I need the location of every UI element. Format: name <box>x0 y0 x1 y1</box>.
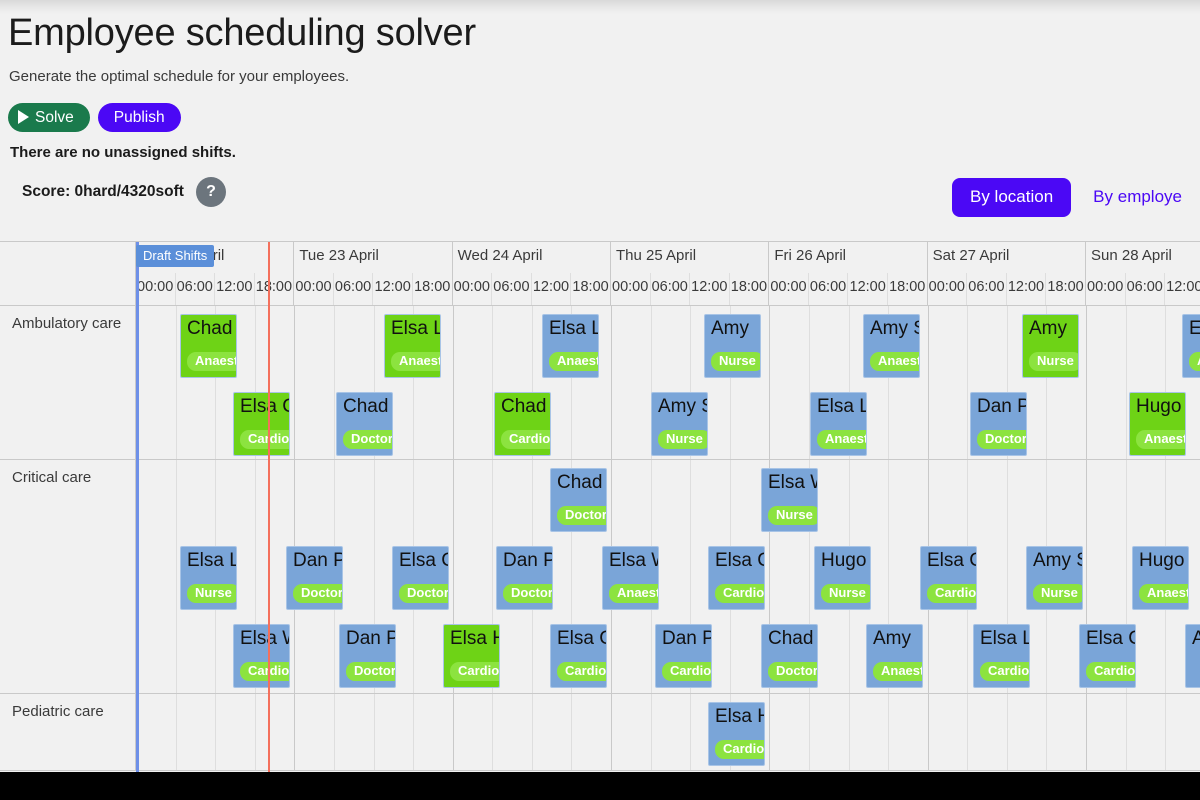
hour-header-label: 06:00 <box>177 279 213 295</box>
hour-header-label: 12:00 <box>533 279 569 295</box>
timeline-gridline <box>967 694 968 770</box>
shift-skill-tag: Anaest <box>609 584 659 603</box>
hour-header-label: 00:00 <box>770 279 806 295</box>
hour-header-cell: 12:00 <box>532 273 572 305</box>
shift-card[interactable]: Dan PDoctor <box>286 546 343 610</box>
hour-header-label: 00:00 <box>929 279 965 295</box>
shift-employee-name: Dan P <box>293 550 343 572</box>
shift-skill-tag: Anaest <box>1139 584 1189 603</box>
timeline-corner-cell <box>0 242 136 305</box>
hour-header-cell: 06:00 <box>1126 273 1166 305</box>
hour-header-label: 18:00 <box>414 279 450 295</box>
shift-skill-tag: Doctor <box>399 584 449 603</box>
unassigned-shifts-message: There are no unassigned shifts. <box>10 144 1200 161</box>
shift-employee-name: Amy <box>1029 318 1067 340</box>
hour-header-label: 12:00 <box>216 279 252 295</box>
timeline-row-lane: Elsa LNurseElsa WCardiolDan PDoctorDan P… <box>136 460 1200 693</box>
shift-card[interactable]: Elsa LNurse <box>180 546 237 610</box>
shift-skill-tag: Nurse <box>658 430 708 449</box>
day-header-label: Tue 23 April <box>299 247 379 264</box>
timeline-gridline <box>690 694 691 770</box>
day-header-label: Fri 26 April <box>774 247 846 264</box>
timeline-gridline <box>453 306 454 459</box>
timeline-gridline <box>571 694 572 770</box>
shift-skill-tag: Doctor <box>343 430 393 449</box>
shift-employee-name: Chad <box>501 396 546 418</box>
view-toggle: By location By employe <box>952 178 1200 217</box>
hour-header-label: 18:00 <box>1047 279 1083 295</box>
schedule-timeline: Mon 22 AprilTue 23 AprilWed 24 AprilThu … <box>0 241 1200 772</box>
publish-button-label: Publish <box>114 110 165 126</box>
shift-employee-name: Hugo <box>821 550 866 572</box>
page-title: Employee scheduling solver <box>8 12 1200 56</box>
timeline-gridline <box>532 694 533 770</box>
shift-skill-tag: Anaest <box>549 352 599 371</box>
shift-employee-name: Elsa L <box>980 628 1030 650</box>
day-header-label: Sun 28 April <box>1091 247 1172 264</box>
shift-card[interactable]: HugoNurse <box>814 546 871 610</box>
day-header-cell: Fri 26 April <box>769 242 927 273</box>
shift-employee-name: Elsa L <box>187 550 237 572</box>
hour-header-cell: 00:00 <box>453 273 493 305</box>
timeline-gridline <box>651 694 652 770</box>
hour-header-cell: 18:00 <box>888 273 928 305</box>
timeline-row-label: Ambulatory care <box>0 306 136 459</box>
shift-skill-tag: Anaest <box>817 430 867 449</box>
shift-card[interactable]: EA <box>1182 314 1200 378</box>
shift-employee-name: Elsa L <box>817 396 867 418</box>
timeline-row-label: Pediatric care <box>0 694 136 770</box>
shift-card[interactable]: Elsa HCardiol <box>708 702 765 766</box>
timeline-gridline <box>888 694 889 770</box>
action-button-row: Solve Publish <box>8 103 1200 133</box>
timeline-row: Pediatric careElsa HCardiol <box>0 694 1200 771</box>
timeline-gridline <box>967 306 968 459</box>
hour-header-cell: 06:00 <box>651 273 691 305</box>
timeline-gridline <box>611 306 612 459</box>
shift-card[interactable]: Elsa LAnaest <box>542 314 599 378</box>
shift-card[interactable]: ChadAnaest <box>180 314 237 378</box>
solve-button[interactable]: Solve <box>8 103 90 133</box>
shift-skill-tag: Cardiol <box>927 584 977 603</box>
shift-employee-name: Elsa W <box>768 472 818 494</box>
hour-header-label: 00:00 <box>1087 279 1123 295</box>
hour-header-label: 12:00 <box>691 279 727 295</box>
shift-skill-tag: Nurse <box>821 584 871 603</box>
timeline-row: Critical careElsa LNurseElsa WCardiolDan… <box>0 460 1200 694</box>
shift-skill-tag: Doctor <box>557 506 607 525</box>
hour-header-cell: 06:00 <box>492 273 532 305</box>
shift-employee-name: Elsa H <box>450 628 500 650</box>
hour-header-cell: 00:00 <box>611 273 651 305</box>
shift-card[interactable]: AmyNurse <box>704 314 761 378</box>
shift-skill-tag: Doctor <box>977 430 1027 449</box>
timeline-row-label: Critical care <box>0 460 136 693</box>
day-header-cell: Thu 25 April <box>611 242 769 273</box>
timeline-gridline <box>215 694 216 770</box>
shift-card[interactable]: AmyNurse <box>1022 314 1079 378</box>
timeline-gridline <box>176 306 177 459</box>
shift-skill-tag: Nurse <box>1033 584 1083 603</box>
shift-skill-tag: Nurse <box>711 352 761 371</box>
shift-card[interactable]: Elsa CCardiol <box>1079 624 1136 688</box>
hour-header-label: 18:00 <box>256 279 292 295</box>
timeline-gridline <box>928 694 929 770</box>
hour-header-cell: 00:00 <box>928 273 968 305</box>
shift-card[interactable]: A <box>1185 624 1200 688</box>
day-header-cell: Tue 23 April <box>294 242 452 273</box>
timeline-gridline <box>492 694 493 770</box>
play-icon <box>18 110 29 124</box>
hour-header-cell: 18:00 <box>413 273 453 305</box>
hour-header-cell: 06:00 <box>809 273 849 305</box>
shift-employee-name: Amy <box>711 318 749 340</box>
shift-employee-name: Elsa C <box>557 628 607 650</box>
publish-button[interactable]: Publish <box>98 103 181 133</box>
shift-skill-tag: Nurse <box>768 506 818 525</box>
hour-header-label: 00:00 <box>612 279 648 295</box>
shift-employee-name: Dan P <box>503 550 553 572</box>
timeline-gridline <box>255 694 256 770</box>
hour-header-label: 06:00 <box>1127 279 1163 295</box>
shift-card[interactable]: AmyAnaest <box>866 624 923 688</box>
hour-header-label: 18:00 <box>889 279 925 295</box>
shift-employee-name: Elsa H <box>715 706 765 728</box>
shift-card[interactable]: ChadCardiol <box>494 392 551 456</box>
timeline-gridline <box>334 306 335 459</box>
timeline-gridline <box>176 694 177 770</box>
draft-shifts-badge: Draft Shifts <box>136 245 214 267</box>
hour-header-label: 06:00 <box>652 279 688 295</box>
hour-header-label: 06:00 <box>810 279 846 295</box>
shift-employee-name: Chad <box>557 472 602 494</box>
shift-skill-tag: Anaest <box>1136 430 1186 449</box>
app-page: Employee scheduling solver Generate the … <box>0 0 1200 772</box>
hour-header-cell: 18:00 <box>571 273 611 305</box>
day-header-label: Thu 25 April <box>616 247 696 264</box>
page-subtitle: Generate the optimal schedule for your e… <box>9 68 1200 85</box>
hour-header-cell: 12:00 <box>849 273 889 305</box>
hour-header-label: 00:00 <box>137 279 173 295</box>
shift-employee-name: Elsa L <box>391 318 441 340</box>
day-header-label: Sat 27 April <box>933 247 1010 264</box>
shift-skill-tag: Cardiol <box>1086 662 1136 681</box>
day-header-cell: Wed 24 April <box>453 242 611 273</box>
shift-skill-tag: Anaest <box>870 352 920 371</box>
shift-card[interactable]: Elsa CCardiol <box>920 546 977 610</box>
hour-header-cell: 00:00 <box>1086 273 1126 305</box>
shift-employee-name: Elsa C <box>715 550 765 572</box>
shift-skill-tag: Anaest <box>187 352 237 371</box>
hour-header-cell: 18:00 <box>255 273 295 305</box>
timeline-gridline <box>294 694 295 770</box>
timeline-body: Ambulatory careChadAnaestElsa CCardiolCh… <box>0 306 1200 772</box>
shift-card[interactable]: Amy SNurse <box>1026 546 1083 610</box>
shift-card[interactable]: Elsa WNurse <box>761 468 818 532</box>
shift-card[interactable]: Elsa LCardiol <box>973 624 1030 688</box>
shift-card[interactable]: Amy SAnaest <box>863 314 920 378</box>
tab-by-location[interactable]: By location <box>952 178 1071 217</box>
shift-card[interactable]: Elsa CCardiol <box>233 392 290 456</box>
shift-card[interactable]: Dan PDoctor <box>496 546 553 610</box>
shift-skill-tag: Cardiol <box>715 584 765 603</box>
shift-card[interactable]: Dan PDoctor <box>339 624 396 688</box>
timeline-gridline <box>849 694 850 770</box>
shift-card[interactable]: Amy SNurse <box>651 392 708 456</box>
hour-header-label: 18:00 <box>731 279 767 295</box>
hour-header-cell: 00:00 <box>136 273 176 305</box>
shift-skill-tag: Cardiol <box>450 662 500 681</box>
shift-skill-tag: Anaest <box>873 662 923 681</box>
hour-header-cell: 12:00 <box>215 273 255 305</box>
hour-header-label: 06:00 <box>335 279 371 295</box>
shift-employee-name: Elsa W <box>240 628 290 650</box>
timeline-gridline <box>413 694 414 770</box>
shift-card[interactable]: Elsa WCardiol <box>233 624 290 688</box>
day-header-cell: Sun 28 April <box>1086 242 1200 273</box>
shift-skill-tag: Cardiol <box>501 430 551 449</box>
shift-card[interactable]: Elsa WAnaest <box>602 546 659 610</box>
hour-header-label: 06:00 <box>493 279 529 295</box>
shift-skill-tag: Doctor <box>768 662 818 681</box>
hour-header-cell: 12:00 <box>1165 273 1200 305</box>
timeline-row: Ambulatory careChadAnaestElsa CCardiolCh… <box>0 306 1200 460</box>
shift-card[interactable]: Dan PDoctor <box>970 392 1027 456</box>
hour-header-label: 12:00 <box>1166 279 1200 295</box>
timeline-gridline <box>769 694 770 770</box>
shift-employee-name: Chad <box>768 628 813 650</box>
timeline-gridline <box>1126 306 1127 459</box>
solve-button-label: Solve <box>35 110 74 126</box>
hour-header-label: 00:00 <box>295 279 331 295</box>
shift-card[interactable]: HugoAnaest <box>1129 392 1186 456</box>
hour-header-label: 00:00 <box>454 279 490 295</box>
hour-header-label: 12:00 <box>850 279 886 295</box>
timeline-gridline <box>453 694 454 770</box>
hour-header-cell: 18:00 <box>730 273 770 305</box>
hour-header-cell: 18:00 <box>1046 273 1086 305</box>
timeline-gridline <box>374 694 375 770</box>
timeline-gridline <box>928 306 929 459</box>
shift-card[interactable]: ChadDoctor <box>336 392 393 456</box>
timeline-row-lane: Elsa HCardiol <box>136 694 1200 770</box>
shift-employee-name: Elsa C <box>240 396 290 418</box>
timeline-gridline <box>1126 694 1127 770</box>
shift-employee-name: Elsa C <box>399 550 449 572</box>
timeline-gridline <box>294 306 295 459</box>
timeline-header: Mon 22 AprilTue 23 AprilWed 24 AprilThu … <box>0 242 1200 306</box>
shift-skill-tag: Doctor <box>293 584 343 603</box>
shift-employee-name: Elsa C <box>927 550 977 572</box>
shift-skill-tag: Cardiol <box>980 662 1030 681</box>
shift-employee-name: Hugo <box>1139 550 1184 572</box>
help-icon[interactable]: ? <box>196 177 226 207</box>
shift-card[interactable]: Elsa CDoctor <box>392 546 449 610</box>
shift-employee-name: Amy S <box>870 318 920 340</box>
score-text: Score: 0hard/4320soft <box>22 183 184 201</box>
shift-card[interactable]: Elsa CCardiol <box>708 546 765 610</box>
shift-skill-tag: A <box>1189 352 1200 371</box>
timeline-gridline <box>1007 694 1008 770</box>
shift-employee-name: A <box>1192 628 1200 650</box>
hour-header-label: 18:00 <box>572 279 608 295</box>
shift-employee-name: Dan P <box>346 628 396 650</box>
shift-card[interactable]: Elsa LAnaest <box>810 392 867 456</box>
shift-skill-tag: Cardiol <box>240 662 290 681</box>
shift-skill-tag: Nurse <box>1029 352 1079 371</box>
shift-card[interactable]: HugoAnaest <box>1132 546 1189 610</box>
timeline-gridline <box>136 694 137 770</box>
shift-card[interactable]: ChadDoctor <box>761 624 818 688</box>
shift-skill-tag: Nurse <box>187 584 237 603</box>
shift-employee-name: Chad <box>187 318 232 340</box>
shift-employee-name: Hugo <box>1136 396 1181 418</box>
hour-header-cell: 12:00 <box>690 273 730 305</box>
timeline-gridline <box>136 306 137 459</box>
day-header-label: Wed 24 April <box>458 247 543 264</box>
timeline-gridline <box>1086 306 1087 459</box>
shift-card[interactable]: Dan PCardiol <box>655 624 712 688</box>
shift-employee-name: Chad <box>343 396 388 418</box>
shift-skill-tag: Cardiol <box>662 662 712 681</box>
shift-card[interactable]: ChadDoctor <box>550 468 607 532</box>
hour-header-cell: 06:00 <box>967 273 1007 305</box>
shift-employee-name: Amy S <box>1033 550 1083 572</box>
shift-employee-name: E <box>1189 318 1200 340</box>
shift-skill-tag: Doctor <box>346 662 396 681</box>
page-header: Employee scheduling solver Generate the … <box>0 0 1200 207</box>
timeline-gridline <box>1046 694 1047 770</box>
shift-skill-tag: Cardiol <box>715 740 765 759</box>
timeline-row-lane: ChadAnaestElsa CCardiolChadDoctorElsa LA… <box>136 306 1200 459</box>
timeline-gridline <box>176 460 177 693</box>
timeline-day-header: Mon 22 AprilTue 23 AprilWed 24 AprilThu … <box>136 242 1200 273</box>
hour-header-cell: 12:00 <box>374 273 414 305</box>
hour-header-cell: 12:00 <box>1007 273 1047 305</box>
shift-employee-name: Elsa L <box>549 318 599 340</box>
timeline-gridline <box>1086 694 1087 770</box>
hour-header-label: 12:00 <box>1008 279 1044 295</box>
hour-header-label: 12:00 <box>375 279 411 295</box>
shift-employee-name: Amy S <box>658 396 708 418</box>
hour-header-cell: 06:00 <box>176 273 216 305</box>
timeline-gridline <box>136 460 137 693</box>
hour-header-label: 06:00 <box>968 279 1004 295</box>
timeline-gridline <box>1165 694 1166 770</box>
shift-employee-name: Dan P <box>662 628 712 650</box>
timeline-gridline <box>611 694 612 770</box>
shift-card[interactable]: Elsa CCardiol <box>550 624 607 688</box>
timeline-gridline <box>334 694 335 770</box>
shift-card[interactable]: Elsa LAnaest <box>384 314 441 378</box>
timeline-gridline <box>809 694 810 770</box>
shift-skill-tag: Cardiol <box>557 662 607 681</box>
timeline-gridline <box>769 306 770 459</box>
hour-header-cell: 06:00 <box>334 273 374 305</box>
shift-employee-name: Dan P <box>977 396 1027 418</box>
shift-skill-tag: Cardiol <box>240 430 290 449</box>
day-header-cell: Sat 27 April <box>928 242 1086 273</box>
hour-header-cell: 00:00 <box>294 273 334 305</box>
shift-skill-tag: Doctor <box>503 584 553 603</box>
shift-skill-tag: Anaest <box>391 352 441 371</box>
shift-card[interactable]: Elsa HCardiol <box>443 624 500 688</box>
tab-by-employee[interactable]: By employe <box>1075 178 1200 217</box>
shift-employee-name: Elsa W <box>609 550 659 572</box>
shift-employee-name: Amy <box>873 628 911 650</box>
hour-header-cell: 00:00 <box>769 273 809 305</box>
shift-employee-name: Elsa C <box>1086 628 1136 650</box>
timeline-hour-header: 00:0006:0012:0018:0000:0006:0012:0018:00… <box>136 273 1200 305</box>
